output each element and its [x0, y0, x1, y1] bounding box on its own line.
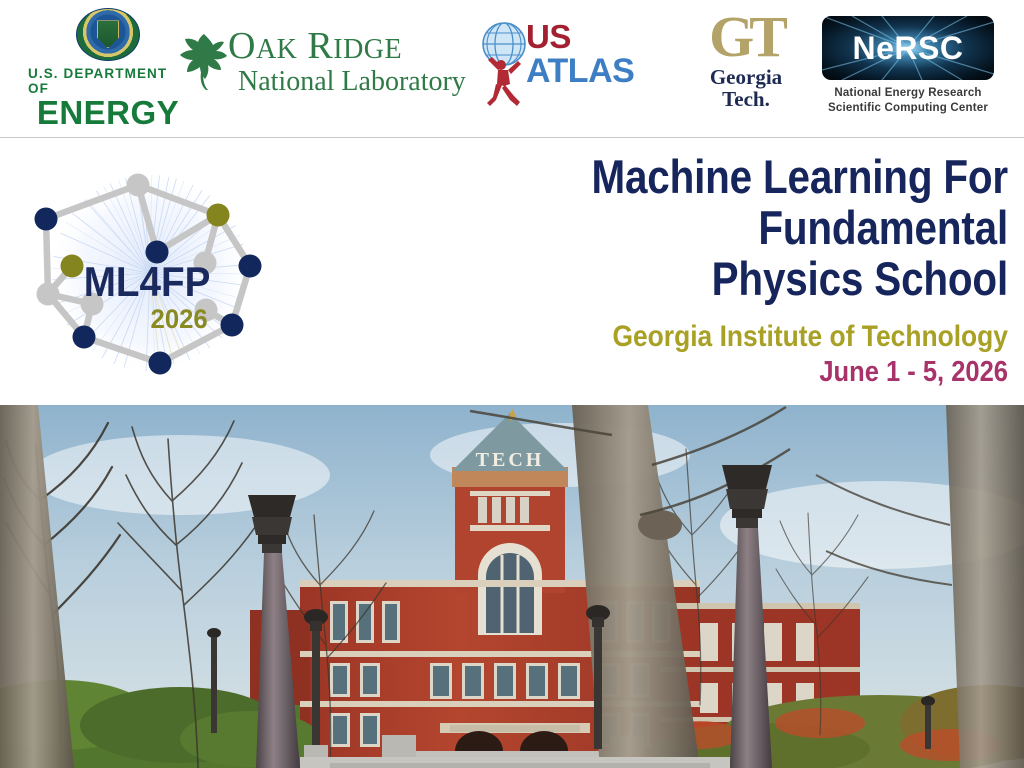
title-band: ML4FP 2026 Machine Learning For Fundamen… [0, 138, 1024, 405]
gt-monogram-icon: GT [709, 10, 783, 63]
ornl-secondary-label: National Laboratory [238, 66, 466, 98]
nersc-fullname-label: National Energy Research Scientific Comp… [822, 86, 994, 115]
us-atlas-us-label: US [526, 20, 571, 53]
sponsor-logo-bar: U.S. DEPARTMENT OF ENERGY OAK RIDGE Nati… [0, 0, 1024, 138]
page-title-line1: Machine Learning For Fundamental [415, 152, 1008, 254]
page-title-line2: Physics School [415, 254, 1008, 305]
nersc-badge-icon: NeRSC [822, 16, 994, 80]
sponsor-logo-oak-ridge: OAK RIDGE National Laboratory [178, 24, 460, 110]
venue-label: Georgia Institute of Technology [401, 320, 1008, 354]
ml4fp-acronym-label: ML4FP [84, 257, 211, 305]
doe-seal-icon [76, 8, 140, 61]
foreground-ground [300, 757, 730, 768]
atlas-figure-icon [484, 56, 524, 108]
ml4fp-year-label: 2026 [151, 303, 208, 334]
sponsor-logo-nersc: NeRSC National Energy Research Scientifi… [822, 16, 1002, 126]
us-atlas-atlas-label: ATLAS [526, 54, 634, 88]
doe-department-label: U.S. DEPARTMENT OF [28, 66, 188, 96]
gt-line2: Tech. [710, 89, 782, 110]
georgia-tech-name-label: Georgia Tech. [710, 67, 782, 110]
gt-line1: Georgia [710, 67, 782, 88]
doe-energy-label: ENERGY [37, 97, 179, 128]
poster-root: U.S. DEPARTMENT OF ENERGY OAK RIDGE Nati… [0, 0, 1024, 768]
tech-sign-label: TECH [476, 449, 545, 471]
nersc-line1: National Energy Research [822, 86, 994, 101]
sponsor-logo-us-atlas: US ATLAS [478, 18, 658, 118]
ml4fp-2026-logo: ML4FP 2026 [10, 158, 290, 388]
nersc-wordmark-label: NeRSC [853, 30, 964, 67]
oak-leaf-icon [178, 32, 230, 90]
sponsor-logo-doe: U.S. DEPARTMENT OF ENERGY [28, 8, 188, 128]
tech-tower-campus-photo: TECH [0, 405, 1024, 768]
title-block: Machine Learning For Fundamental Physics… [318, 152, 1008, 388]
dates-label: June 1 - 5, 2026 [401, 356, 1008, 388]
nersc-line2: Scientific Computing Center [822, 101, 994, 116]
campus-photo-illustration: TECH [0, 405, 1024, 768]
ornl-primary-label: OAK RIDGE [228, 24, 402, 68]
sponsor-logo-georgia-tech: GT Georgia Tech. [686, 10, 806, 130]
page-title: Machine Learning For Fundamental Physics… [415, 152, 1008, 304]
